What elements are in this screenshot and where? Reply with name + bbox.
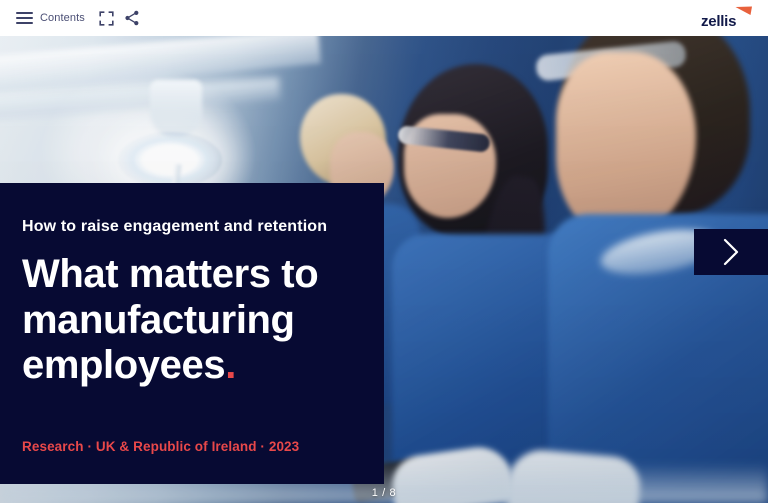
slide-headline: What matters to manufacturing employees. [22,252,372,389]
top-toolbar: Contents [0,0,768,36]
chevron-right-icon [720,237,742,267]
share-icon [124,10,140,26]
logo-accent-shape [736,7,753,16]
share-button[interactable] [120,5,144,31]
contents-button[interactable]: Contents [12,5,93,31]
headline-accent-dot: . [225,343,236,387]
title-panel: How to raise engagement and retention Wh… [0,183,384,484]
hamburger-menu-icon [16,12,33,24]
fullscreen-button[interactable] [95,5,118,31]
zellis-logo[interactable]: zellis [700,5,756,31]
next-slide-button[interactable] [694,229,768,275]
contents-label: Contents [40,12,85,24]
slide-kicker: How to raise engagement and retention [22,217,327,236]
slide-canvas: How to raise engagement and retention Wh… [0,36,768,503]
slide-headline-text: What matters to manufacturing employees [22,252,318,387]
logo-wordmark: zellis [701,13,736,30]
document-viewer: Contents [0,0,768,503]
toolbar-right-group: zellis [700,5,768,31]
fullscreen-expand-icon [99,11,114,26]
page-indicator: 1 / 8 [0,487,768,499]
slide-meta: Research · UK & Republic of Ireland · 20… [22,439,299,454]
toolbar-left-group: Contents [0,5,144,31]
